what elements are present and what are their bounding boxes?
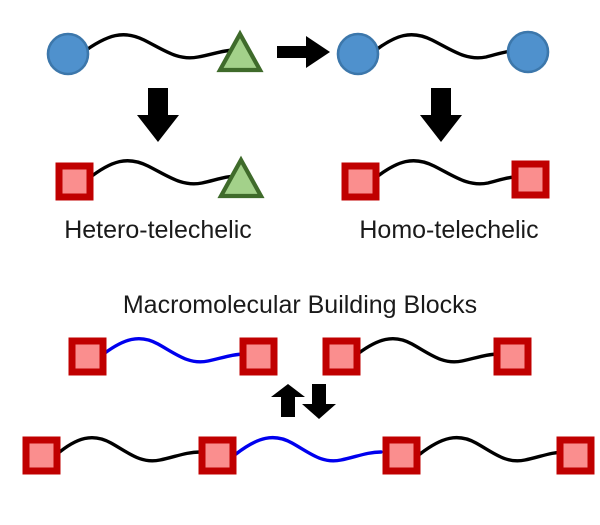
top-left-polymer <box>48 34 260 74</box>
right-arrow-icon <box>277 36 330 68</box>
building-blocks-title: Macromolecular Building Blocks <box>123 291 477 319</box>
down-arrow-icon <box>302 384 336 419</box>
end-group-square <box>345 166 376 197</box>
assembled-copolymer <box>26 438 591 471</box>
building-block-blue <box>72 339 274 372</box>
end-group-square <box>497 341 528 372</box>
mid-left-polymer <box>59 160 261 197</box>
end-group-square <box>72 341 103 372</box>
hetero-telechelic-label: Hetero-telechelic <box>64 216 252 244</box>
end-group-circle <box>508 32 548 72</box>
copolymer-segment-blue <box>236 438 381 461</box>
polymer-chain-black <box>88 161 238 184</box>
top-right-polymer <box>338 32 548 74</box>
end-group-square <box>243 341 274 372</box>
end-group-square <box>515 164 546 195</box>
scheme-figure: Hetero-telechelic Homo-telechelic Macrom… <box>0 0 600 525</box>
down-arrow-icon <box>420 88 462 142</box>
scheme-canvas: Hetero-telechelic Homo-telechelic Macrom… <box>0 0 600 525</box>
mid-right-polymer <box>345 161 546 197</box>
down-arrow-icon <box>137 88 179 142</box>
polymer-chain-black <box>82 35 236 58</box>
end-group-square <box>560 440 591 471</box>
end-group-square <box>326 341 357 372</box>
homo-telechelic-label: Homo-telechelic <box>359 216 538 244</box>
up-arrow-icon <box>271 384 305 417</box>
polymer-chain-black <box>372 35 514 58</box>
junction-square <box>386 440 417 471</box>
polymer-chain-black <box>355 339 499 362</box>
polymer-chain-black <box>374 161 516 184</box>
end-group-square <box>59 166 90 197</box>
end-group-square <box>26 440 57 471</box>
end-group-circle <box>338 34 378 74</box>
junction-square <box>202 440 233 471</box>
copolymer-segment-black <box>56 438 200 461</box>
polymer-chain-blue <box>101 339 245 362</box>
end-group-circle <box>48 34 88 74</box>
building-block-black <box>326 339 528 372</box>
copolymer-segment-black <box>420 438 565 461</box>
